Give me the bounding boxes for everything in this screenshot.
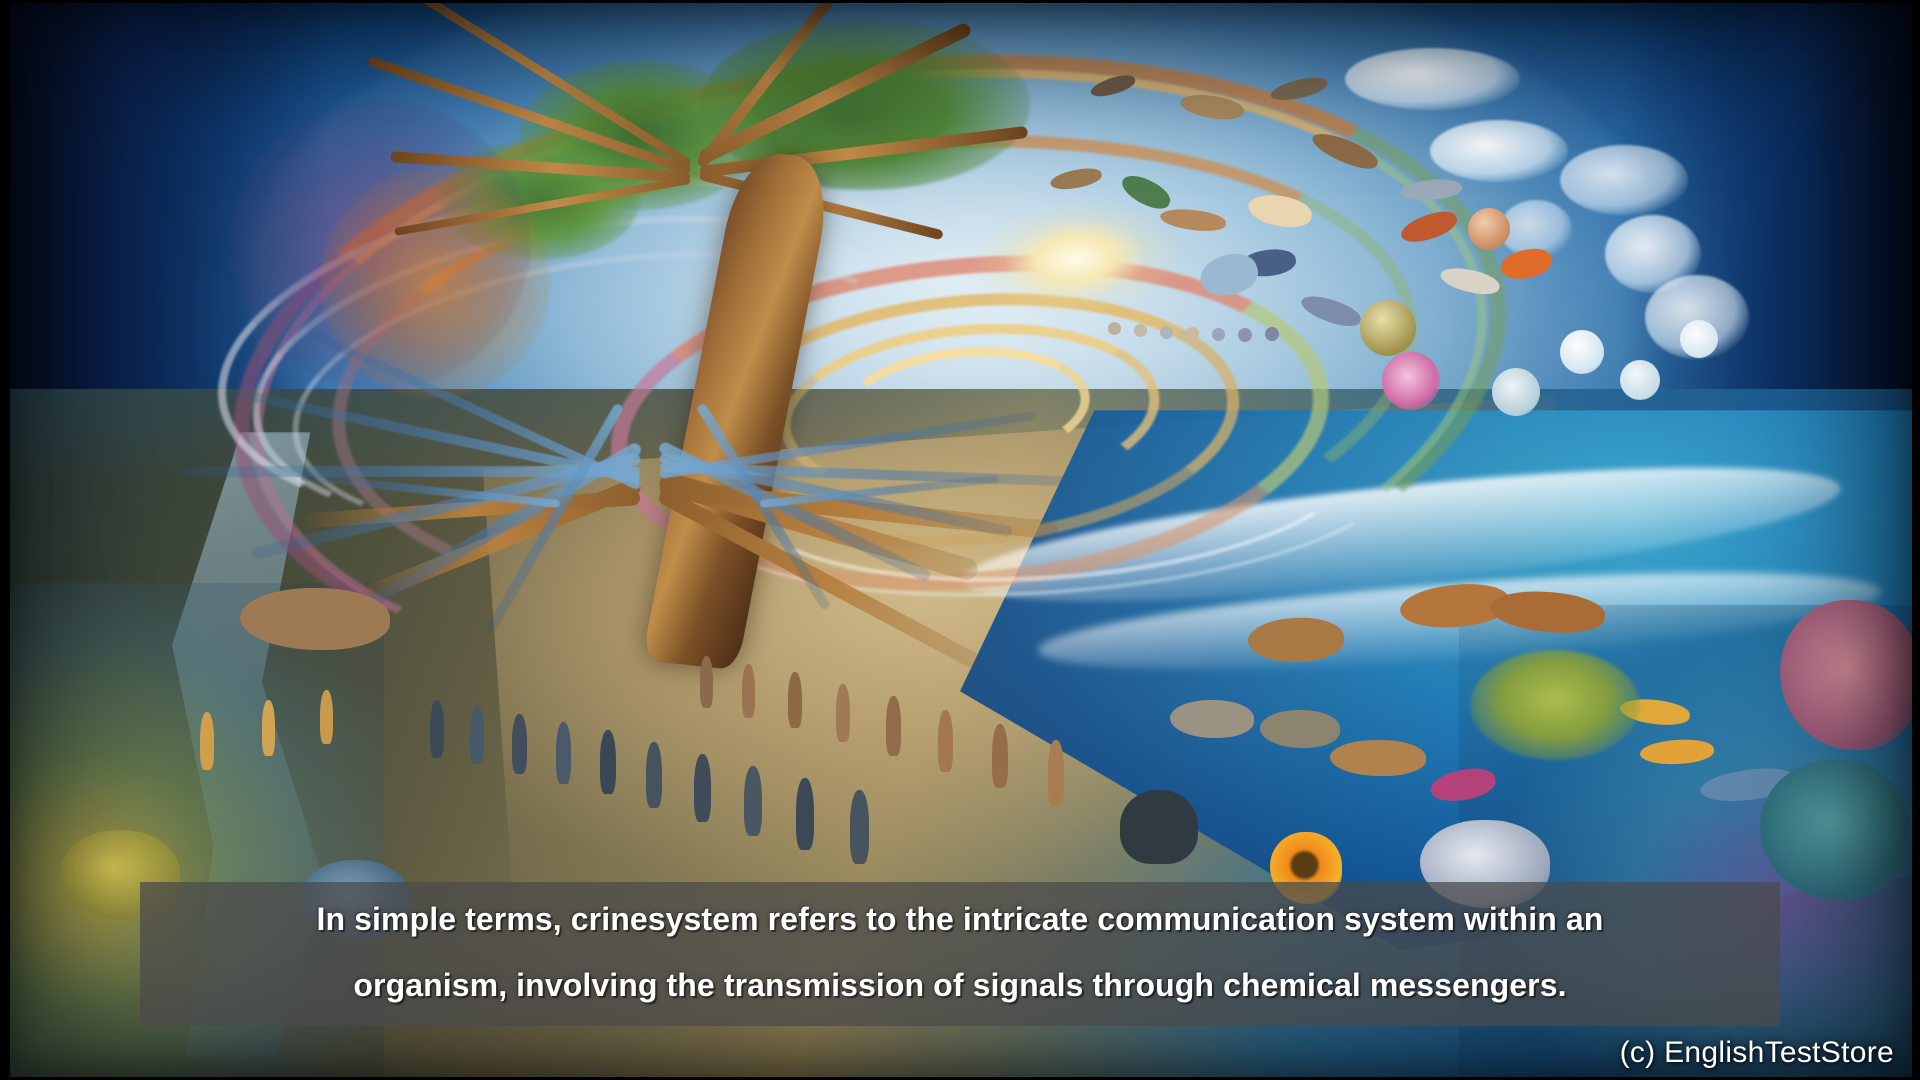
microbe-dot: [1212, 328, 1225, 341]
hominid-figure: [796, 778, 814, 850]
grazing-mammal: [1170, 700, 1254, 738]
microbe-dot: [1186, 327, 1199, 340]
gorilla: [1120, 790, 1198, 864]
plankton-form: [1492, 368, 1540, 416]
hominid-figure: [512, 714, 527, 774]
hominid-figure: [320, 690, 333, 744]
hominid-figure: [646, 742, 662, 808]
watermark-credit: (c) EnglishTestStore: [1620, 1036, 1894, 1070]
hominid-figure: [200, 712, 214, 770]
microbe-dot: [1134, 324, 1147, 337]
grazing-mammal: [1260, 710, 1340, 748]
hominid-figure: [556, 722, 571, 784]
illustration-canvas: In simple terms, crinesystem refers to t…: [0, 0, 1920, 1080]
hominid-figure: [600, 730, 616, 794]
hominid-figure: [742, 664, 755, 718]
caption-line-1: In simple terms, crinesystem refers to t…: [162, 886, 1758, 952]
hominid-figure: [262, 700, 275, 756]
microbe-dot: [1108, 322, 1121, 335]
hominid-figure: [700, 656, 713, 708]
hominid-figure: [430, 700, 444, 758]
tree-trunk: [642, 150, 837, 671]
microbe-dot: [1238, 328, 1252, 342]
plankton-form: [1680, 320, 1718, 358]
hominid-figure: [992, 724, 1008, 788]
grazing-mammal: [1330, 740, 1426, 776]
plankton-form: [1560, 330, 1604, 374]
hominid-figure: [694, 754, 711, 822]
plankton-form: [1360, 300, 1416, 356]
hominid-figure: [1048, 740, 1064, 806]
hominid-figure: [788, 672, 802, 728]
hominid-figure: [470, 706, 484, 764]
hominid-figure: [836, 684, 850, 742]
shore-tree: [1470, 650, 1640, 760]
coral-clump: [1780, 600, 1920, 750]
microbe-dot: [1265, 327, 1279, 341]
definition-caption-box: In simple terms, crinesystem refers to t…: [140, 882, 1780, 1026]
canopy-blossom-orange: [320, 168, 550, 398]
hominid-figure: [886, 696, 901, 756]
microbe-dot: [1160, 326, 1173, 339]
caption-line-2: organism, involving the transmission of …: [162, 952, 1758, 1018]
hominid-figure: [744, 766, 762, 836]
plankton-form: [1468, 208, 1510, 250]
sea-urchin: [1382, 352, 1440, 410]
hominid-figure: [850, 790, 869, 864]
hominid-figure: [938, 710, 953, 772]
plankton-form: [1620, 360, 1660, 400]
